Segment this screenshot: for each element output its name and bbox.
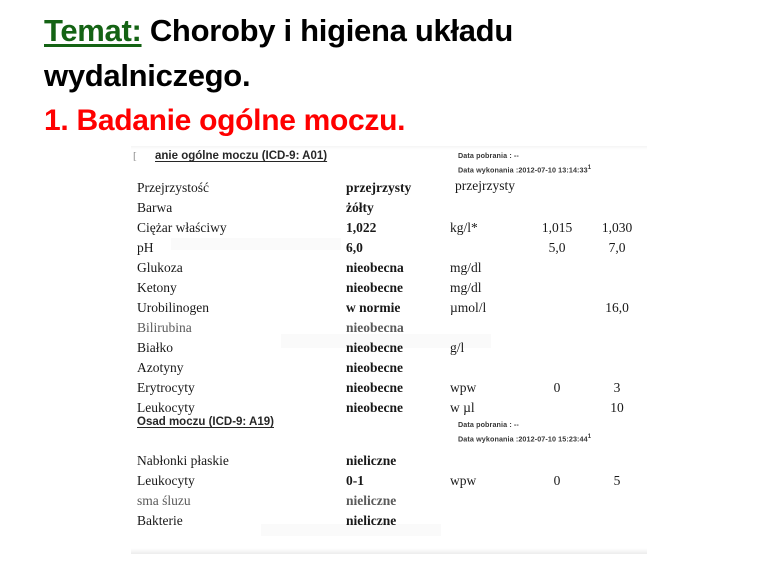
row-range-high (588, 338, 646, 358)
row-result-value: nieobecne (346, 378, 450, 398)
scan-bottom-edge (131, 548, 647, 554)
row-result-value: nieobecne (346, 398, 450, 418)
table-row: Przejrzystośćprzejrzysty (137, 178, 646, 198)
row-range-low (526, 451, 588, 471)
heading-line-3-subtopic: 1. Badanie ogólne moczu. (44, 98, 744, 143)
table-row: Ketonynieobecnemg/dl (137, 278, 646, 298)
table-row: pH6,05,07,0 (137, 238, 646, 258)
row-range-low (526, 178, 588, 198)
row-unit: kg/l* (450, 218, 526, 238)
scanned-lab-report-image: [ anie ogólne moczu (ICD-9: A01) Data po… (131, 146, 647, 554)
date-performed-superscript: 1 (588, 434, 591, 440)
row-range-high (588, 258, 646, 278)
row-unit: wpw (450, 471, 526, 491)
row-range-low: 0 (526, 378, 588, 398)
row-result-value: w normie (346, 298, 450, 318)
row-range-low (526, 258, 588, 278)
table-row: Nabłonki płaskienieliczne (137, 451, 646, 471)
heading-topic-label: Temat: (44, 13, 142, 48)
row-range-low (526, 358, 588, 378)
row-result-value: nieliczne (346, 491, 450, 511)
row-range-high: 3 (588, 378, 646, 398)
row-range-low (526, 398, 588, 418)
row-range-high: 10 (588, 398, 646, 418)
sediment-table-body: Nabłonki płaskienieliczneLeukocyty0-1wpw… (137, 451, 646, 531)
sediment-results-table: Nabłonki płaskienieliczneLeukocyty0-1wpw… (137, 451, 646, 531)
row-range-high: 5 (588, 471, 646, 491)
row-result-value: nieobecna (346, 318, 450, 338)
row-range-high (588, 178, 646, 198)
row-range-high (588, 451, 646, 471)
row-range-high (588, 318, 646, 338)
date-collected-label: Data pobrania : -- (458, 418, 591, 431)
row-parameter-name: Bilirubina (137, 318, 346, 338)
row-result-value: żółty (346, 198, 450, 218)
row-parameter-name: sma śluzu (137, 491, 346, 511)
row-parameter-name: Glukoza (137, 258, 346, 278)
table-row: Bakterienieliczne (137, 511, 646, 531)
row-unit: w µl (450, 398, 526, 418)
row-range-high (588, 278, 646, 298)
row-unit (450, 238, 526, 258)
date-performed-label: Data wykonania :2012-07-10 13:14:331 (458, 162, 591, 176)
row-parameter-name: Azotyny (137, 358, 346, 378)
row-result-value: nieliczne (346, 451, 450, 471)
row-result-value: przejrzysty (346, 178, 450, 198)
date-performed-text: Data wykonania :2012-07-10 15:23:44 (458, 434, 588, 443)
table-row: sma śluzunieliczne (137, 491, 646, 511)
row-parameter-name: Barwa (137, 198, 346, 218)
row-range-low (526, 511, 588, 531)
row-parameter-name: Leukocyty (137, 471, 346, 491)
table-row: Leukocyty0-1wpw05 (137, 471, 646, 491)
row-result-value: nieliczne (346, 511, 450, 531)
table-row: Glukozanieobecnamg/dl (137, 258, 646, 278)
row-result-value: nieobecna (346, 258, 450, 278)
row-parameter-name: Ciężar właściwy (137, 218, 346, 238)
row-range-high (588, 358, 646, 378)
row-unit: µmol/l (450, 298, 526, 318)
section2-date-meta: Data pobrania : -- Data wykonania :2012-… (458, 418, 591, 445)
row-result-value: nieobecne (346, 278, 450, 298)
row-unit: mg/dl (450, 278, 526, 298)
row-range-low: 1,015 (526, 218, 588, 238)
row-result-value: 6,0 (346, 238, 450, 258)
row-parameter-name: Urobilinogen (137, 298, 346, 318)
row-range-high (588, 198, 646, 218)
row-range-low (526, 318, 588, 338)
row-range-high (588, 491, 646, 511)
date-performed-superscript: 1 (588, 165, 591, 171)
section-header-sediment: Osad moczu (ICD-9: A19) (137, 416, 274, 428)
heading-topic-text: Choroby i higiena układu (142, 13, 513, 48)
row-parameter-name: Przejrzystość (137, 178, 346, 198)
date-performed-label: Data wykonania :2012-07-10 15:23:441 (458, 431, 591, 445)
row-unit (450, 358, 526, 378)
row-unit: mg/dl (450, 258, 526, 278)
date-collected-label: Data pobrania : -- (458, 149, 591, 162)
row-parameter-name: Erytrocyty (137, 378, 346, 398)
row-unit (450, 198, 526, 218)
row-range-low (526, 298, 588, 318)
heading-line-1: Temat: Choroby i higiena układu (44, 8, 744, 53)
row-range-low: 0 (526, 471, 588, 491)
row-parameter-name: Nabłonki płaskie (137, 451, 346, 471)
table-row: Urobilinogenw normieµmol/l16,0 (137, 298, 646, 318)
urinalysis-table-body: PrzejrzystośćprzejrzystyBarważółtyCiężar… (137, 178, 646, 418)
row-parameter-name: Leukocyty (137, 398, 346, 418)
row-unit: wpw (450, 378, 526, 398)
row-parameter-name: Bakterie (137, 511, 346, 531)
row-unit (450, 451, 526, 471)
row-result-value: nieobecne (346, 338, 450, 358)
heading-line-2: wydalniczego. (44, 53, 744, 98)
table-row: Barważółty (137, 198, 646, 218)
table-row: Białkonieobecneg/l (137, 338, 646, 358)
row-range-high: 1,030 (588, 218, 646, 238)
row-range-low (526, 278, 588, 298)
row-parameter-name: pH (137, 238, 346, 258)
row-range-low: 5,0 (526, 238, 588, 258)
row-unit (450, 318, 526, 338)
urinalysis-results-table: PrzejrzystośćprzejrzystyBarważółtyCiężar… (137, 178, 646, 418)
slide-heading-block: Temat: Choroby i higiena układu wydalnic… (44, 8, 744, 143)
row-unit (450, 511, 526, 531)
row-range-high: 7,0 (588, 238, 646, 258)
section-header-urinalysis: anie ogólne moczu (ICD-9: A01) (155, 150, 327, 162)
row-result-value: 0-1 (346, 471, 450, 491)
row-unit (450, 178, 526, 198)
row-unit: g/l (450, 338, 526, 358)
row-range-low (526, 338, 588, 358)
table-row: Azotynynieobecne (137, 358, 646, 378)
row-range-low (526, 198, 588, 218)
scan-artifact-mark: [ (133, 150, 137, 162)
row-result-value: nieobecne (346, 358, 450, 378)
row-result-value: 1,022 (346, 218, 450, 238)
table-row: Bilirubinanieobecna (137, 318, 646, 338)
table-row: Erytrocytynieobecnewpw03 (137, 378, 646, 398)
row-range-high (588, 511, 646, 531)
table-row: Ciężar właściwy1,022kg/l*1,0151,030 (137, 218, 646, 238)
table-row: Leukocytynieobecnew µl10 (137, 398, 646, 418)
date-performed-text: Data wykonania :2012-07-10 13:14:33 (458, 165, 588, 174)
row-range-low (526, 491, 588, 511)
section1-date-meta: Data pobrania : -- Data wykonania :2012-… (458, 149, 591, 176)
row-parameter-name: Białko (137, 338, 346, 358)
row-range-high: 16,0 (588, 298, 646, 318)
row-unit (450, 491, 526, 511)
row-parameter-name: Ketony (137, 278, 346, 298)
